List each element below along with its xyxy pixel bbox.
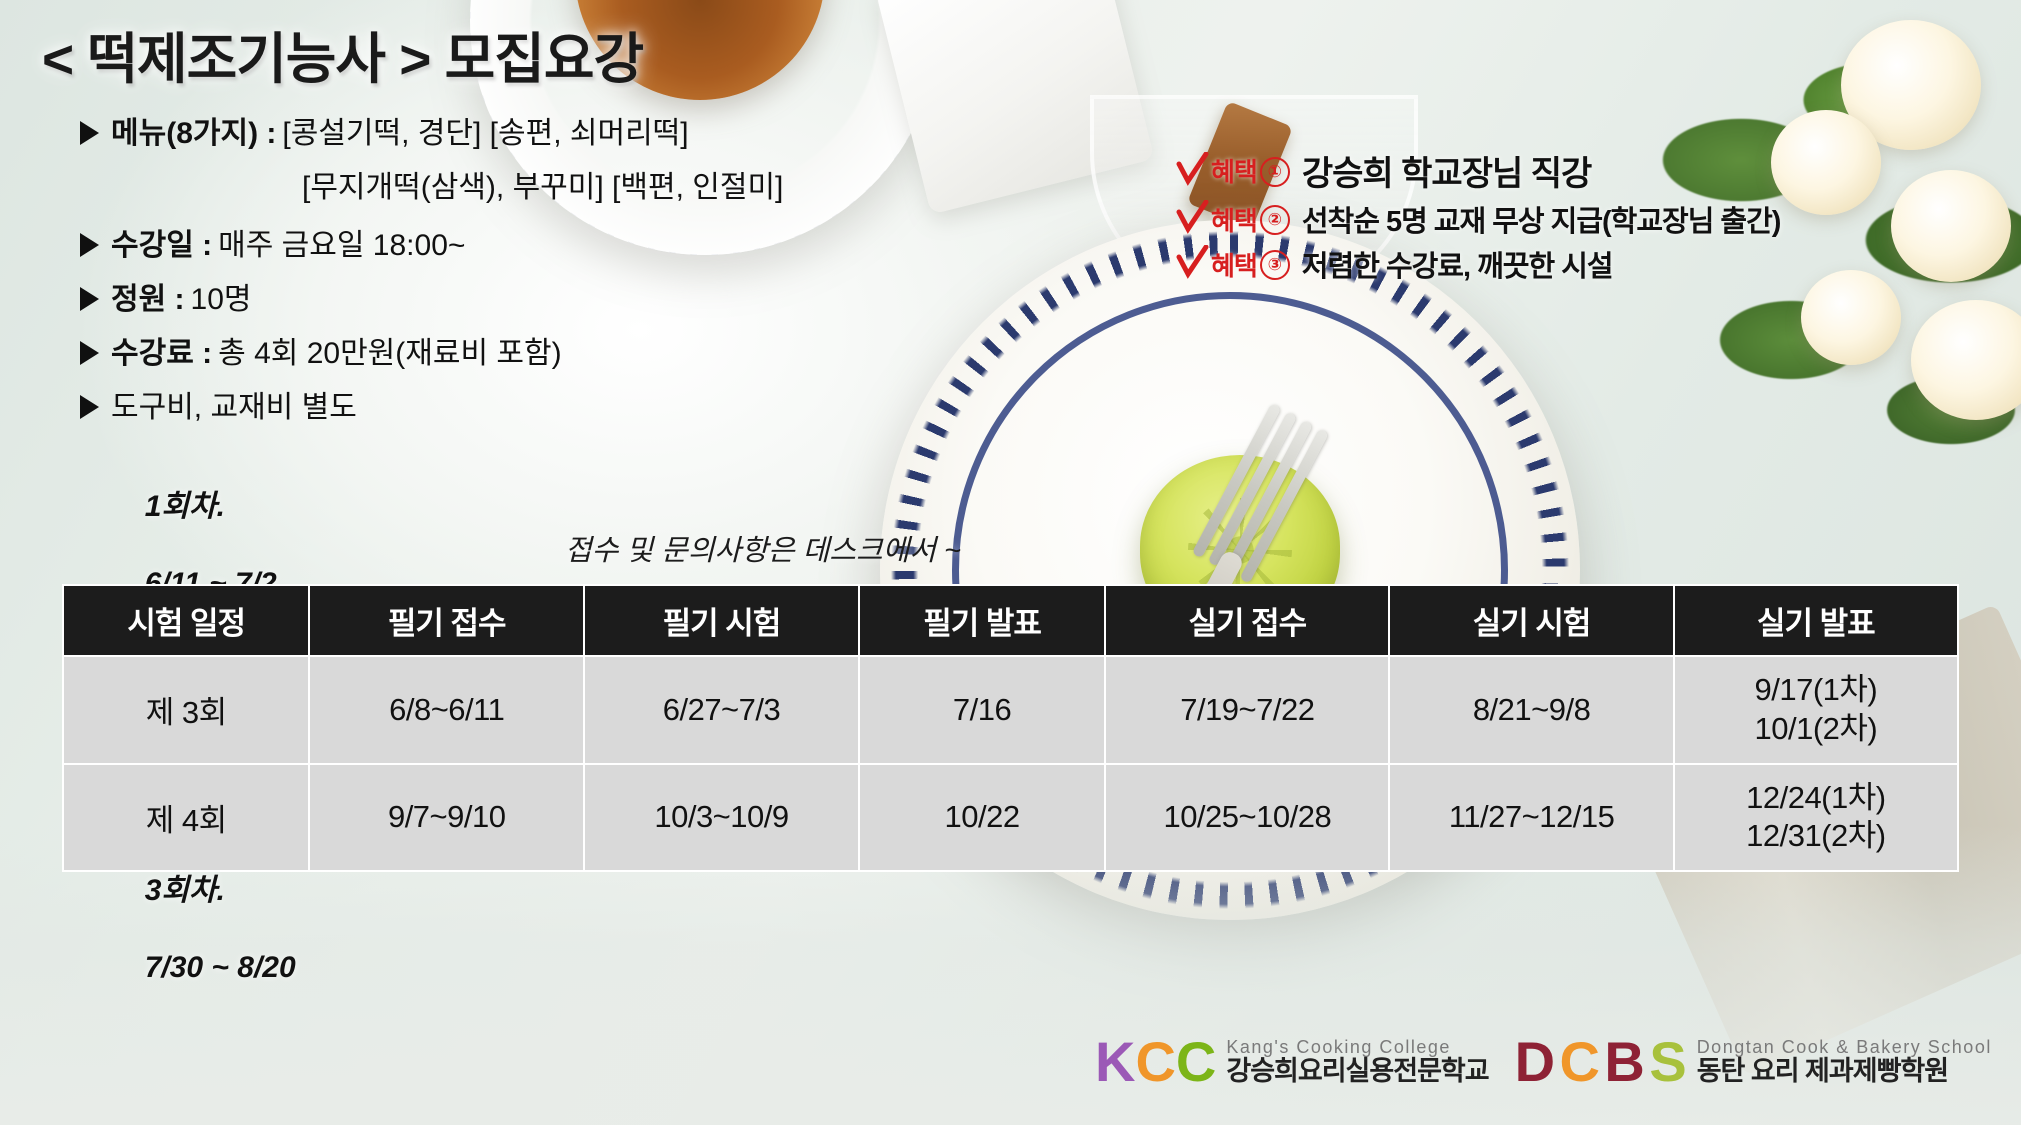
triangle-bullet-icon [80, 341, 99, 365]
fee-value: 총 4회 20만원(재료비 포함) [218, 328, 561, 372]
kcc-letter-marks: K C C [1095, 1034, 1216, 1090]
triangle-bullet-icon [80, 233, 99, 257]
benefit-tag: 혜택 [1211, 201, 1257, 238]
kcc-korean-name: 강승희요리실용전문학교 [1226, 1057, 1488, 1085]
cell-written-result: 10/22 [859, 764, 1105, 872]
cell-exam-round: 제 3회 [63, 656, 309, 764]
info-row-class-day: 수강일 : 매주 금요일 18:00~ [80, 220, 980, 264]
cell-exam-round: 제 4회 [63, 764, 309, 872]
benefit-number: ③ [1260, 250, 1290, 280]
dcbs-english-name: Dongtan Cook & Bakery School [1697, 1038, 1992, 1057]
table-header-cell: 실기 접수 [1105, 585, 1389, 656]
round-dates: 7/30 ~ 8/20 [145, 951, 296, 984]
benefit-tag: 혜택 [1211, 246, 1257, 283]
extra-note: 도구비, 교재비 별도 [111, 382, 357, 426]
page-title: < 떡제조기능사 > 모집요강 [42, 14, 643, 94]
benefit-number: ① [1260, 157, 1290, 187]
dcbs-letter-s: S [1649, 1030, 1686, 1093]
dcbs-korean-name: 동탄 요리 제과제빵학원 [1697, 1057, 1992, 1085]
benefit-row: 혜택 ② 선착순 5명 교재 무상 지급(학교장님 출간) [1175, 198, 1780, 240]
info-row-menu: 메뉴(8가지) : [콩설기떡, 경단] [송편, 쇠머리떡] [80, 108, 980, 152]
kcc-english-name: Kang's Cooking College [1226, 1038, 1488, 1057]
cell-practical-apply: 7/19~7/22 [1105, 656, 1389, 764]
capacity-label: 정원 : [111, 274, 185, 318]
cell-written-apply: 9/7~9/10 [309, 764, 584, 872]
kcc-letter-k: K [1095, 1034, 1135, 1090]
round-label: 3회차. [145, 874, 225, 907]
kcc-logo-text: Kang's Cooking College 강승희요리실용전문학교 [1226, 1038, 1488, 1085]
kcc-letter-c1: C [1135, 1034, 1175, 1090]
footer-logos: K C C Kang's Cooking College 강승희요리실용전문학교… [1095, 1034, 1992, 1090]
info-row-capacity: 정원 : 10명 [80, 274, 980, 318]
menu-label: 메뉴(8가지) : [111, 108, 276, 152]
cell-practical-exam: 8/21~9/8 [1389, 656, 1673, 764]
table-header-cell: 필기 발표 [859, 585, 1105, 656]
menu-line-1: [콩설기떡, 경단] [송편, 쇠머리떡] [282, 108, 688, 152]
menu-line-2: [무지개떡(삼색), 부꾸미] [백편, 인절미] [302, 162, 980, 206]
benefit-text: 강승희 학교장님 직강 [1302, 146, 1591, 195]
dcbs-letter-b: B [1604, 1030, 1644, 1093]
triangle-bullet-icon [80, 287, 99, 311]
class-day-value: 매주 금요일 18:00~ [218, 220, 465, 264]
cell-written-exam: 10/3~10/9 [584, 764, 859, 872]
fee-label: 수강료 : [111, 328, 212, 372]
logo-kcc: K C C Kang's Cooking College 강승희요리실용전문학교 [1095, 1034, 1489, 1090]
triangle-bullet-icon [80, 395, 99, 419]
practical-result-line-1: 9/17(1차) [1679, 671, 1953, 710]
check-icon [1175, 200, 1209, 234]
table-row: 제 3회 6/8~6/11 6/27~7/3 7/16 7/19~7/22 8/… [63, 656, 1958, 764]
benefit-tag: 혜택 [1211, 152, 1257, 189]
dcbs-logo-text: Dongtan Cook & Bakery School 동탄 요리 제과제빵학… [1697, 1038, 1992, 1085]
benefit-row: 혜택 ③ 저렴한 수강료, 깨끗한 시설 [1175, 243, 1780, 285]
practical-result-line-1: 12/24(1차) [1679, 779, 1953, 818]
table-header-cell: 실기 시험 [1389, 585, 1673, 656]
info-row-fee: 수강료 : 총 4회 20만원(재료비 포함) [80, 328, 980, 372]
kcc-letter-c2: C [1176, 1034, 1216, 1090]
class-day-label: 수강일 : [111, 220, 212, 264]
benefit-number: ② [1260, 205, 1290, 235]
table-header-cell: 필기 접수 [309, 585, 584, 656]
course-info-list: 메뉴(8가지) : [콩설기떡, 경단] [송편, 쇠머리떡] [무지개떡(삼색… [80, 108, 980, 436]
desk-inquiry-note: 접수 및 문의사항은 데스크에서 ~ [565, 527, 961, 569]
cell-written-result: 7/16 [859, 656, 1105, 764]
table-header-cell: 필기 시험 [584, 585, 859, 656]
cell-practical-result: 9/17(1차) 10/1(2차) [1674, 656, 1958, 764]
cell-practical-exam: 11/27~12/15 [1389, 764, 1673, 872]
check-icon [1175, 245, 1209, 279]
practical-result-line-2: 10/1(2차) [1679, 710, 1953, 749]
benefit-text: 저렴한 수강료, 깨끗한 시설 [1302, 243, 1613, 285]
table-header-row: 시험 일정 필기 접수 필기 시험 필기 발표 실기 접수 실기 시험 실기 발… [63, 585, 1958, 656]
cell-practical-result: 12/24(1차) 12/31(2차) [1674, 764, 1958, 872]
exam-schedule-table: 시험 일정 필기 접수 필기 시험 필기 발표 실기 접수 실기 시험 실기 발… [62, 584, 1959, 872]
practical-result-line-2: 12/31(2차) [1679, 817, 1953, 856]
dcbs-letter-c: C [1560, 1030, 1600, 1093]
capacity-value: 10명 [191, 274, 252, 318]
round-label: 1회차. [145, 490, 225, 523]
cell-written-apply: 6/8~6/11 [309, 656, 584, 764]
cell-practical-apply: 10/25~10/28 [1105, 764, 1389, 872]
poster-root: < 떡제조기능사 > 모집요강 메뉴(8가지) : [콩설기떡, 경단] [송편… [0, 0, 2021, 1125]
cell-written-exam: 6/27~7/3 [584, 656, 859, 764]
table-row: 제 4회 9/7~9/10 10/3~10/9 10/22 10/25~10/2… [63, 764, 1958, 872]
check-icon [1175, 152, 1209, 186]
benefit-row: 혜택 ① 강승희 학교장님 직강 [1175, 146, 1780, 195]
benefit-text: 선착순 5명 교재 무상 지급(학교장님 출간) [1302, 198, 1781, 240]
dcbs-letter-d: D [1515, 1030, 1555, 1093]
table-header-cell: 실기 발표 [1674, 585, 1958, 656]
dcbs-letter-marks: D C B S [1515, 1034, 1687, 1090]
info-row-extra: 도구비, 교재비 별도 [80, 382, 980, 426]
benefits-list: 혜택 ① 강승희 학교장님 직강 혜택 ② 선착순 5명 교재 무상 지급(학교… [1175, 146, 1780, 288]
triangle-bullet-icon [80, 121, 99, 145]
table-header-cell: 시험 일정 [63, 585, 309, 656]
logo-dcbs: D C B S Dongtan Cook & Bakery School 동탄 … [1515, 1034, 1992, 1090]
